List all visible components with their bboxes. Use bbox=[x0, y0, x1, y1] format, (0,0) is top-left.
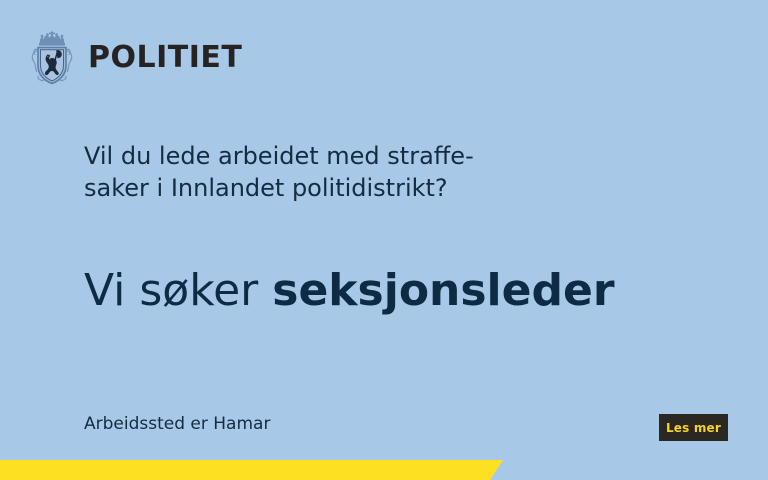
brand-lockup: POLITIET bbox=[28, 31, 242, 85]
politiet-wordmark: POLITIET bbox=[88, 43, 242, 73]
page-title: Vi søker seksjonsleder bbox=[84, 265, 724, 317]
headline-light-part: Vi søker bbox=[84, 265, 272, 316]
norwegian-coat-of-arms-icon bbox=[28, 31, 76, 85]
les-mer-button-label: Les mer bbox=[666, 422, 721, 434]
location-note: Arbeidssted er Hamar bbox=[84, 413, 270, 435]
kicker-text: Vil du lede arbeidet med straffe- saker … bbox=[84, 140, 644, 204]
accent-band bbox=[0, 460, 503, 480]
recruitment-banner: POLITIET Vil du lede arbeidet med straff… bbox=[0, 0, 768, 480]
les-mer-button[interactable]: Les mer bbox=[659, 414, 728, 441]
headline-strong-part: seksjonsleder bbox=[272, 265, 614, 316]
